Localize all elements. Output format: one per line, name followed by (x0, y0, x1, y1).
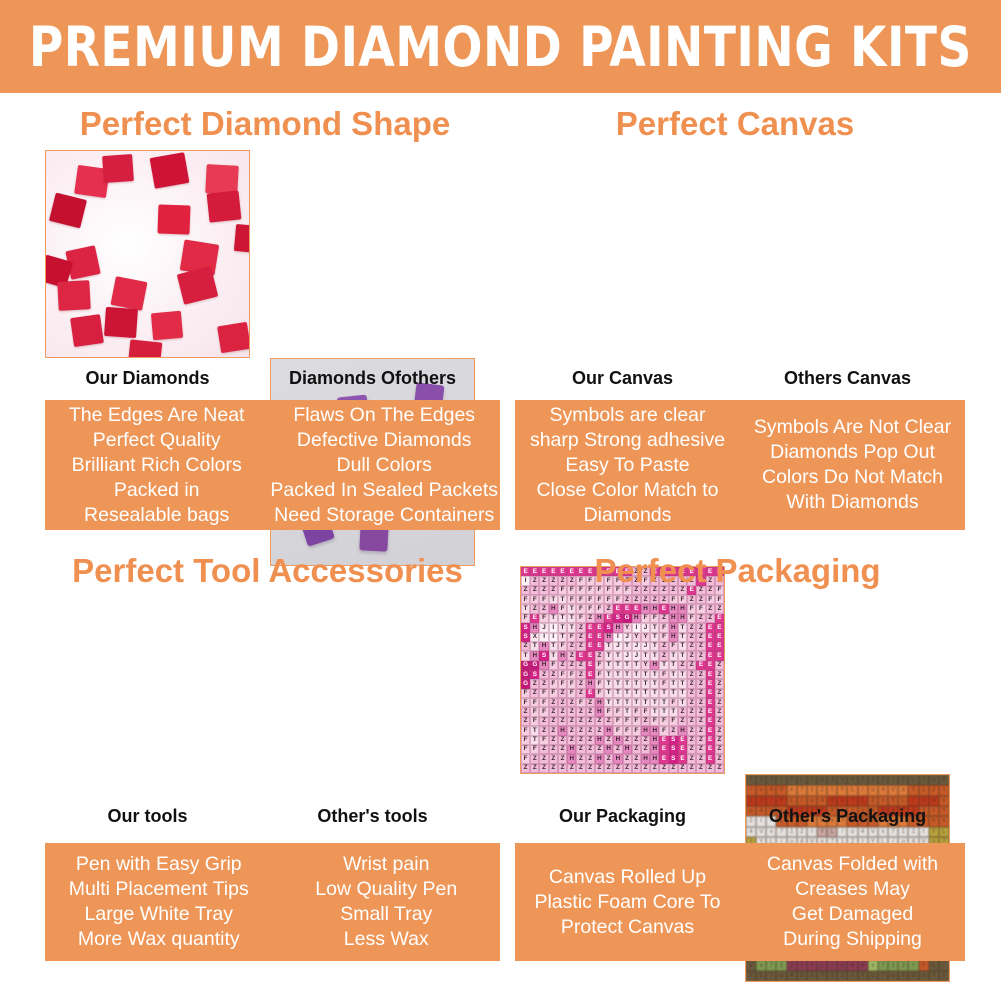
canvas-cell: Z (706, 604, 715, 613)
canvas-cell: Z (576, 633, 585, 642)
canvas-cell: 1 (868, 775, 878, 785)
canvas-cell: 1 (919, 785, 929, 795)
canvas-cell: H (650, 726, 659, 735)
canvas-cell: Z (549, 698, 558, 707)
canvas-cell: Z (558, 717, 567, 726)
panel-line: Brilliant Rich Colors (72, 453, 242, 478)
canvas-cell: T (678, 670, 687, 679)
canvas-cell: E (706, 689, 715, 698)
canvas-cell: Z (595, 726, 604, 735)
canvas-cell: Z (613, 764, 622, 773)
canvas-cell: E (706, 651, 715, 660)
caption-others-canvas: Others Canvas (745, 368, 950, 389)
canvas-cell: Z (715, 764, 724, 773)
canvas-cell: t (919, 827, 929, 837)
canvas-cell: 1 (787, 827, 797, 837)
canvas-cell: T (659, 689, 668, 698)
canvas-cell: F (567, 670, 576, 679)
panel-line: More Wax quantity (78, 927, 240, 952)
canvas-cell: F (604, 595, 613, 604)
panel-line: Large White Tray (85, 902, 233, 927)
canvas-cell: Z (641, 595, 650, 604)
canvas-cell: E (595, 623, 604, 632)
canvas-cell: Z (604, 604, 613, 613)
canvas-cell: F (595, 670, 604, 679)
canvas-cell: t (766, 796, 776, 806)
canvas-cell: Z (715, 726, 724, 735)
canvas-cell: G (623, 614, 632, 623)
canvas-cell: E (586, 689, 595, 698)
canvas-cell: Z (632, 745, 641, 754)
canvas-cell: T (549, 614, 558, 623)
canvas-cell: F (706, 595, 715, 604)
section-title-diamond-shape: Perfect Diamond Shape (40, 105, 490, 143)
canvas-cell: G (521, 661, 530, 670)
canvas-cell: Z (715, 604, 724, 613)
panel-line: Flaws On The Edges (293, 403, 475, 428)
caption-other-tools: Other's tools (270, 806, 475, 827)
canvas-cell: Z (539, 604, 548, 613)
canvas-cell: F (567, 595, 576, 604)
panel-line: Symbols are clear (549, 403, 705, 428)
canvas-cell: H (558, 726, 567, 735)
canvas-cell: E (586, 651, 595, 660)
panel-tools-ours: Pen with Easy Grip Multi Placement Tips … (45, 843, 273, 961)
canvas-cell: H (567, 754, 576, 763)
panel-line: Canvas Folded with (767, 852, 938, 877)
canvas-cell: u (847, 827, 857, 837)
canvas-cell: 1 (776, 960, 786, 970)
canvas-cell: x (898, 785, 908, 795)
canvas-cell: H (669, 604, 678, 613)
panel-line: Packed in (114, 478, 200, 503)
panel-diamond-shape-theirs: Flaws On The Edges Defective Diamonds Du… (268, 400, 500, 530)
canvas-cell: 2 (837, 971, 847, 981)
canvas-cell: T (669, 707, 678, 716)
canvas-cell: T (613, 651, 622, 660)
canvas-cell: T (613, 661, 622, 670)
canvas-cell: 7 (908, 785, 918, 795)
canvas-cell: E (678, 736, 687, 745)
canvas-cell: t (888, 775, 898, 785)
canvas-cell: X (530, 633, 539, 642)
canvas-cell: Z (539, 679, 548, 688)
panel-line: With Diamonds (786, 490, 918, 515)
canvas-cell: V (746, 960, 756, 970)
canvas-cell: E (706, 754, 715, 763)
canvas-cell: 1 (888, 960, 898, 970)
canvas-cell: F (696, 604, 705, 613)
canvas-cell: x (787, 785, 797, 795)
tile-our-canvas[interactable]: EEEEEEEEEEEEZZEEEEEEEEIZZZZZFFFFFZZFZZZZ… (520, 566, 725, 774)
canvas-cell: Y (776, 796, 786, 806)
canvas-cell: u (888, 971, 898, 981)
canvas-cell: V (797, 971, 807, 981)
canvas-cell: Y (858, 971, 868, 981)
canvas-cell: Y (817, 827, 827, 837)
canvas-cell: Z (715, 689, 724, 698)
canvas-cell: 1 (898, 827, 908, 837)
canvas-cell: F (595, 661, 604, 670)
canvas-cell: 4 (817, 796, 827, 806)
canvas-cell: Z (576, 717, 585, 726)
canvas-cell: Z (696, 670, 705, 679)
canvas-cell: Z (586, 614, 595, 623)
canvas-cell: T (549, 595, 558, 604)
canvas-cell: x (868, 960, 878, 970)
canvas-cell: Z (586, 717, 595, 726)
canvas-cell: Y (929, 827, 939, 837)
canvas-cell: H (604, 745, 613, 754)
panel-line: Less Wax (344, 927, 429, 952)
canvas-cell: L (787, 796, 797, 806)
canvas-cell: Z (696, 698, 705, 707)
canvas-cell: E (595, 642, 604, 651)
canvas-cell: Z (595, 717, 604, 726)
canvas-cell: J (641, 642, 650, 651)
canvas-cell: E (706, 623, 715, 632)
canvas-cell: Z (576, 745, 585, 754)
canvas-cell: F (669, 595, 678, 604)
canvas-cell: Z (539, 754, 548, 763)
canvas-cell: E (715, 633, 724, 642)
panel-diamond-shape-ours: The Edges Are Neat Perfect Quality Brill… (45, 400, 268, 530)
canvas-cell: F (539, 707, 548, 716)
canvas-cell: E (706, 726, 715, 735)
canvas-cell: Z (558, 736, 567, 745)
canvas-cell: H (539, 642, 548, 651)
canvas-cell: Z (659, 764, 668, 773)
canvas-cell: E (706, 745, 715, 754)
canvas-cell: F (595, 595, 604, 604)
canvas-cell: F (530, 717, 539, 726)
canvas-cell: T (558, 595, 567, 604)
panel-line: Pen with Easy Grip (76, 852, 242, 877)
canvas-cell: Z (576, 726, 585, 735)
canvas-cell: F (641, 707, 650, 716)
canvas-cell: T (632, 670, 641, 679)
canvas-cell: E (715, 651, 724, 660)
canvas-cell: Z (687, 754, 696, 763)
canvas-cell: Z (549, 726, 558, 735)
canvas-cell: T (669, 661, 678, 670)
canvas-cell: F (632, 717, 641, 726)
canvas-cell: 4 (929, 796, 939, 806)
canvas-cell: u (817, 775, 827, 785)
canvas-cell: F (521, 689, 530, 698)
canvas-cell: F (576, 604, 585, 613)
canvas-cell: H (669, 633, 678, 642)
canvas-cell: Z (687, 670, 696, 679)
canvas-cell: / (746, 785, 756, 795)
canvas-cell: Z (567, 717, 576, 726)
canvas-cell: t (939, 785, 949, 795)
canvas-cell: T (567, 604, 576, 613)
canvas-cell: T (650, 689, 659, 698)
canvas-cell: S (521, 633, 530, 642)
canvas-cell: E (586, 623, 595, 632)
canvas-cell: 4 (766, 785, 776, 795)
canvas-cell: Z (687, 736, 696, 745)
canvas-cell: F (521, 595, 530, 604)
canvas-cell: x (878, 827, 888, 837)
canvas-cell: t (827, 785, 837, 795)
canvas-cell: Z (687, 633, 696, 642)
canvas-cell: S (521, 623, 530, 632)
panel-line: The Edges Are Neat (69, 403, 245, 428)
canvas-cell: Z (521, 707, 530, 716)
panel-line: Dull Colors (337, 453, 432, 478)
canvas-cell: u (837, 960, 847, 970)
canvas-cell: F (549, 679, 558, 688)
canvas-cell: Z (669, 726, 678, 735)
canvas-cell: Z (696, 745, 705, 754)
canvas-cell: V (837, 775, 847, 785)
canvas-cell: x (847, 775, 857, 785)
canvas-cell: T (604, 651, 613, 660)
canvas-cell: G (530, 661, 539, 670)
canvas-cell: H (669, 614, 678, 623)
canvas-cell: Z (604, 736, 613, 745)
canvas-cell: 7 (817, 971, 827, 981)
canvas-cell: Y (807, 960, 817, 970)
canvas-cell: J (632, 642, 641, 651)
canvas-cell: H (613, 623, 622, 632)
canvas-cell: E (586, 633, 595, 642)
panel-line: Low Quality Pen (315, 877, 457, 902)
canvas-cell: T (613, 670, 622, 679)
canvas-cell: F (521, 698, 530, 707)
canvas-cell: Z (715, 745, 724, 754)
canvas-cell: V (939, 796, 949, 806)
canvas-cell: Z (687, 679, 696, 688)
canvas-cell: E (706, 698, 715, 707)
canvas-cell: T (650, 642, 659, 651)
canvas-cell: H (650, 754, 659, 763)
panel-line: Plastic Foam Core To (534, 890, 720, 915)
header-banner: PREMIUM DIAMOND PAINTING KITS (0, 0, 1001, 93)
canvas-cell: F (641, 614, 650, 623)
canvas-cell: x (807, 971, 817, 981)
canvas-cell: Z (687, 642, 696, 651)
canvas-cell: T (659, 707, 668, 716)
canvas-cell: H (595, 754, 604, 763)
panel-line: Creases May (795, 877, 910, 902)
canvas-cell: T (632, 679, 641, 688)
canvas-cell: F (595, 689, 604, 698)
canvas-cell: u (756, 785, 766, 795)
canvas-cell: Z (696, 717, 705, 726)
canvas-cell: Z (687, 595, 696, 604)
canvas-cell: E (678, 754, 687, 763)
canvas-cell: Z (567, 642, 576, 651)
canvas-cell: E (659, 604, 668, 613)
canvas-cell: E (715, 642, 724, 651)
canvas-cell: H (678, 604, 687, 613)
canvas-cell: T (530, 642, 539, 651)
canvas-cell: E (595, 633, 604, 642)
canvas-cell: F (576, 698, 585, 707)
canvas-cell: 4 (787, 971, 797, 981)
canvas-cell: Z (595, 764, 604, 773)
canvas-cell: T (641, 670, 650, 679)
canvas-cell: Z (576, 689, 585, 698)
panel-line: Symbols Are Not Clear (754, 415, 951, 440)
canvas-cell: Z (623, 595, 632, 604)
canvas-cell: H (604, 633, 613, 642)
canvas-cell: 2 (787, 960, 797, 970)
canvas-cell: Z (576, 754, 585, 763)
canvas-cell: H (641, 726, 650, 735)
section-title-packaging: Perfect Packaging (510, 552, 965, 590)
canvas-cell: Z (539, 764, 548, 773)
canvas-cell: H (678, 726, 687, 735)
canvas-cell: Z (586, 726, 595, 735)
canvas-cell: V (858, 960, 868, 970)
canvas-cell: Z (576, 661, 585, 670)
canvas-cell: F (539, 698, 548, 707)
canvas-cell: T (549, 642, 558, 651)
canvas-cell: Z (696, 726, 705, 735)
canvas-cell: F (650, 717, 659, 726)
canvas-cell: 2 (878, 775, 888, 785)
canvas-cell: T (558, 614, 567, 623)
canvas-cell: Y (641, 661, 650, 670)
panel-line: Multi Placement Tips (69, 877, 249, 902)
canvas-cell: x (756, 960, 766, 970)
canvas-cell: E (706, 736, 715, 745)
canvas-cell: E (706, 679, 715, 688)
canvas-cell: S (669, 745, 678, 754)
canvas-cell: L (939, 827, 949, 837)
canvas-cell: 7 (888, 827, 898, 837)
canvas-cell: t (807, 827, 817, 837)
canvas-cell: Z (595, 651, 604, 660)
canvas-cell: 2 (898, 960, 908, 970)
canvas-cell: Z (659, 595, 668, 604)
canvas-cell: F (558, 679, 567, 688)
canvas-cell: E (632, 604, 641, 613)
canvas-cell: Z (567, 661, 576, 670)
panel-packaging-theirs: Canvas Folded with Creases May Get Damag… (740, 843, 965, 961)
canvas-cell: Z (641, 745, 650, 754)
canvas-cell: Z (641, 717, 650, 726)
canvas-cell: F (659, 679, 668, 688)
canvas-cell: T (669, 670, 678, 679)
canvas-cell: u (807, 796, 817, 806)
canvas-cell: Z (687, 707, 696, 716)
panel-line: During Shipping (783, 927, 922, 952)
canvas-cell: E (706, 633, 715, 642)
canvas-cell: t (776, 775, 786, 785)
canvas-cell: Z (539, 745, 548, 754)
canvas-cell: Y (898, 775, 908, 785)
canvas-cell: / (858, 785, 868, 795)
canvas-cell: Z (687, 745, 696, 754)
canvas-cell: F (687, 614, 696, 623)
canvas-cell: S (539, 651, 548, 660)
canvas-cell: T (632, 698, 641, 707)
canvas-cell: Z (530, 764, 539, 773)
canvas-cell: Z (678, 661, 687, 670)
canvas-cell: T (604, 679, 613, 688)
canvas-cell: H (650, 604, 659, 613)
canvas-cell: Z (687, 764, 696, 773)
canvas-cell: T (650, 707, 659, 716)
canvas-cell: Z (696, 754, 705, 763)
canvas-cell: T (641, 679, 650, 688)
canvas-cell: Z (539, 670, 548, 679)
canvas-cell: T (669, 689, 678, 698)
canvas-cell: F (521, 736, 530, 745)
canvas-cell: Z (567, 736, 576, 745)
canvas-cell: F (659, 726, 668, 735)
panel-packaging: Canvas Rolled Up Plastic Foam Core To Pr… (515, 843, 965, 961)
canvas-cell: H (586, 679, 595, 688)
canvas-cell: Z (558, 754, 567, 763)
canvas-cell: T (604, 698, 613, 707)
canvas-cell: T (641, 651, 650, 660)
canvas-cell: / (837, 827, 847, 837)
canvas-cell: Z (650, 595, 659, 604)
canvas-cell: Z (687, 726, 696, 735)
canvas-cell: Z (696, 679, 705, 688)
canvas-cell: F (539, 689, 548, 698)
canvas-cell: / (908, 796, 918, 806)
canvas-cell: T (678, 689, 687, 698)
panel-line: Easy To Paste (565, 453, 689, 478)
canvas-cell: H (539, 661, 548, 670)
canvas-cell: T (521, 651, 530, 660)
canvas-cell: H (530, 623, 539, 632)
canvas-cell: H (669, 623, 678, 632)
section-title-tool-accessories: Perfect Tool Accessories (40, 552, 495, 590)
canvas-cell: T (669, 651, 678, 660)
page-title: PREMIUM DIAMOND PAINTING KITS (29, 15, 972, 79)
canvas-cell: T (650, 670, 659, 679)
canvas-cell: Z (715, 661, 724, 670)
canvas-cell: 2 (817, 785, 827, 795)
canvas-cell: H (650, 745, 659, 754)
tile-our-diamonds[interactable] (45, 150, 250, 358)
panel-line: Close Color Match to (536, 478, 718, 503)
canvas-cell: T (567, 614, 576, 623)
canvas-cell: E (659, 736, 668, 745)
canvas-cell: Z (696, 633, 705, 642)
canvas-cell: Z (521, 717, 530, 726)
canvas-cell: S (613, 614, 622, 623)
canvas-cell: Z (586, 736, 595, 745)
canvas-cell: Z (659, 642, 668, 651)
canvas-cell: 7 (858, 775, 868, 785)
canvas-cell: / (827, 960, 837, 970)
canvas-cell: H (567, 745, 576, 754)
canvas-cell: Z (586, 745, 595, 754)
canvas-cell: Z (549, 717, 558, 726)
canvas-cell: Y (632, 633, 641, 642)
canvas-cell: Z (604, 754, 613, 763)
canvas-cell: Z (687, 651, 696, 660)
canvas-cell: E (706, 642, 715, 651)
canvas-cell: S (669, 736, 678, 745)
canvas-cell: F (521, 726, 530, 735)
canvas-cell: F (632, 726, 641, 735)
canvas-cell: F (586, 595, 595, 604)
canvas-cell: F (659, 633, 668, 642)
canvas-cell: F (521, 754, 530, 763)
canvas-cell: Z (696, 595, 705, 604)
canvas-cell: Z (696, 651, 705, 660)
